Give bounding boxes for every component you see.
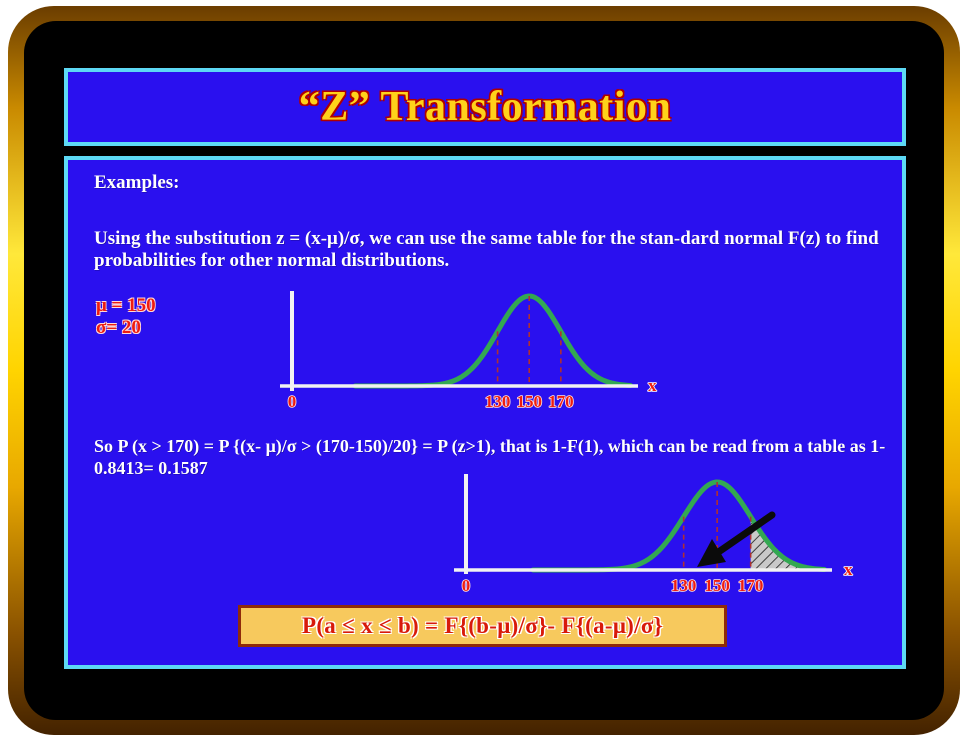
tick-label-170: 170	[548, 392, 574, 411]
sigma-parameter: σ= 20	[96, 317, 156, 339]
distribution-parameters: μ = 150 σ= 20	[96, 295, 156, 339]
tick-label-150: 150	[704, 576, 730, 595]
tick-label-170: 170	[738, 576, 764, 595]
chart-2-normal-curve	[533, 482, 824, 570]
chart-1-mean-markers	[498, 296, 561, 386]
page-title: “Z” Transformation	[299, 83, 672, 131]
normal-curve-chart-1: 0130150170 x	[280, 288, 680, 413]
examples-heading: Examples:	[94, 172, 180, 194]
chart-1-normal-curve	[355, 296, 630, 386]
content-panel: Examples: Using the substitution z = (x-…	[64, 156, 906, 669]
chart-2-svg: 0130150170 x	[454, 474, 874, 596]
intro-paragraph: Using the substitution z = (x-μ)/σ, we c…	[94, 228, 884, 272]
tick-label-130: 130	[671, 576, 697, 595]
tick-label-0: 0	[288, 392, 297, 411]
chart-2-tick-labels: 0130150170	[462, 576, 764, 595]
chart-1-svg: 0130150170 x	[280, 288, 680, 413]
probability-statement: So P (x > 170) = P {(x- μ)/σ > (170-150)…	[94, 436, 894, 479]
tick-label-0: 0	[462, 576, 471, 595]
chart-1-tick-labels: 0130150170	[288, 392, 574, 411]
content-panel-inner: Examples: Using the substitution z = (x-…	[68, 160, 902, 665]
normal-curve-chart-2: 0130150170 x Area = 0.1587	[454, 474, 874, 596]
chart-2-x-axis-label: x	[844, 560, 853, 579]
tick-label-150: 150	[516, 392, 542, 411]
title-panel-inner: “Z” Transformation	[68, 72, 902, 142]
tick-label-130: 130	[485, 392, 511, 411]
formula-callout-box: P(a ≤ x ≤ b) = F{(b-μ)/σ}- F{(a-μ)/σ}	[238, 605, 727, 647]
title-panel: “Z” Transformation	[64, 68, 906, 146]
formula-text: P(a ≤ x ≤ b) = F{(b-μ)/σ}- F{(a-μ)/σ}	[302, 613, 663, 639]
chart-1-x-axis-label: x	[648, 376, 657, 395]
mu-parameter: μ = 150	[96, 295, 156, 317]
